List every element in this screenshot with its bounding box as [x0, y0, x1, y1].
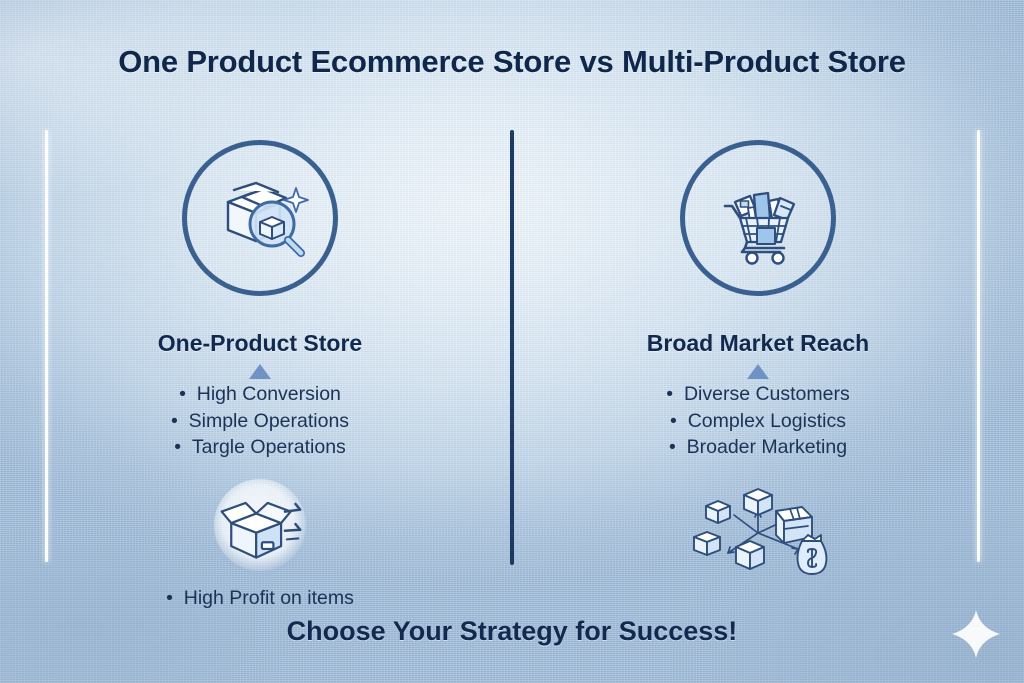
- list-item: Diverse Customers: [548, 381, 968, 408]
- box-distribution-money-illustration: [548, 483, 968, 575]
- column-heading: One-Product Store: [50, 330, 470, 357]
- column-heading: Broad Market Reach: [548, 330, 968, 357]
- center-navy-divider: [510, 130, 514, 565]
- box-magnifier-icon: [182, 140, 338, 296]
- list-item: Targle Operations: [50, 434, 470, 461]
- left-white-divider: [45, 130, 48, 562]
- list-item: Broader Marketing: [548, 434, 968, 461]
- list-item: Complex Logistics: [548, 408, 968, 435]
- triangle-up-marker: [747, 364, 769, 379]
- column-multi-product: Broad Market Reach Diverse Customers Com…: [548, 140, 968, 575]
- footer-cta: Choose Your Strategy for Success!: [0, 616, 1024, 647]
- open-box-shipping-illustration: [50, 479, 470, 571]
- list-item: Simple Operations: [50, 408, 470, 435]
- benefit-list: High Conversion Simple Operations Targle…: [50, 381, 470, 461]
- sparkle-icon: [948, 606, 1004, 667]
- infographic-slide: One Product Ecommerce Store vs Multi-Pro…: [0, 0, 1024, 683]
- benefit-list: Diverse Customers Complex Logistics Broa…: [548, 381, 968, 461]
- right-white-divider: [977, 130, 980, 562]
- column-one-product: One-Product Store High Conversion Simple…: [50, 140, 470, 611]
- triangle-up-marker: [249, 364, 271, 379]
- box-distribution-money-icon: [684, 473, 832, 585]
- open-box-shipping-icon: [214, 479, 306, 571]
- footnote-bullet: High Profit on items: [50, 585, 470, 612]
- page-title: One Product Ecommerce Store vs Multi-Pro…: [0, 44, 1024, 80]
- list-item: High Conversion: [50, 381, 470, 408]
- shopping-cart-full-icon: [680, 140, 836, 296]
